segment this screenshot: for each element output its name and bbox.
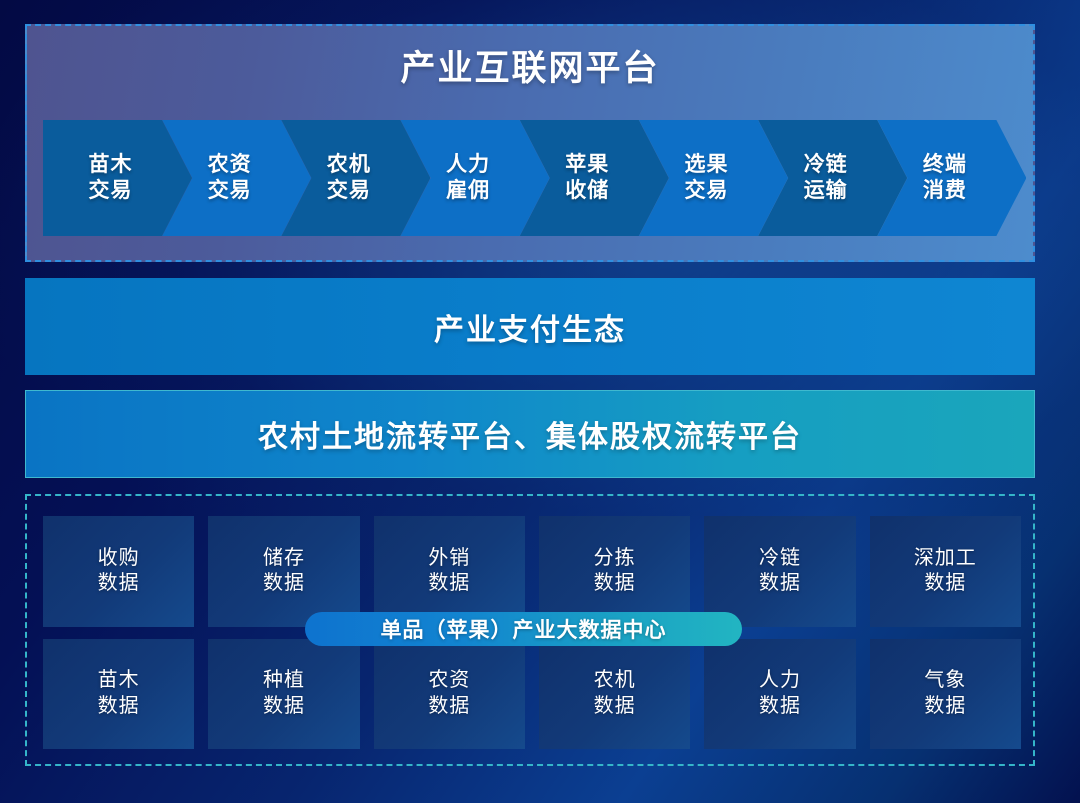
data-cell-line2: 数据 — [594, 571, 636, 597]
land-transfer-platform-label: 农村土地流转平台、集体股权流转平台 — [258, 412, 802, 456]
land-transfer-platform-band: 农村土地流转平台、集体股权流转平台 — [25, 390, 1035, 478]
value-chain-arrow-band: 苗木交易农资交易农机交易人力雇佣苹果收储选果交易冷链运输终端消费 — [43, 120, 1021, 236]
chevron-label-line1: 苹果 — [565, 153, 609, 176]
chevron-label: 人力雇佣 — [446, 152, 490, 203]
payment-ecosystem-band: 产业支付生态 — [25, 278, 1035, 375]
big-data-center-pill: 单品（苹果）产业大数据中心 — [305, 612, 742, 646]
data-cell-line1: 种植 — [263, 668, 305, 694]
chevron-label-line2: 消费 — [923, 179, 967, 202]
data-cell[interactable]: 深加工数据 — [870, 516, 1021, 627]
chevron-label: 农资交易 — [208, 152, 252, 203]
chevron-label-line1: 农机 — [327, 153, 371, 176]
data-cell[interactable]: 外销数据 — [374, 516, 525, 627]
chevron-label-line1: 选果 — [685, 153, 729, 176]
chevron-label: 选果交易 — [685, 152, 729, 203]
data-cell-line1: 人力 — [759, 668, 801, 694]
chevron-label-line1: 苗木 — [89, 153, 133, 176]
data-cell-line2: 数据 — [263, 694, 305, 720]
data-cell-line1: 气象 — [924, 668, 966, 694]
data-cell[interactable]: 苗木数据 — [43, 639, 194, 750]
data-cell-line1: 农资 — [428, 668, 470, 694]
data-cell-line2: 数据 — [594, 694, 636, 720]
chevron-label: 苹果收储 — [565, 152, 609, 203]
chevron-label: 终端消费 — [923, 152, 967, 203]
chevron-label-line2: 雇佣 — [446, 179, 490, 202]
chevron-label-line2: 交易 — [327, 179, 371, 202]
data-cell-line2: 数据 — [924, 694, 966, 720]
chevron-label: 冷链运输 — [804, 152, 848, 203]
chevron-label-line2: 收储 — [565, 179, 609, 202]
data-cell[interactable]: 气象数据 — [870, 639, 1021, 750]
data-cell[interactable]: 收购数据 — [43, 516, 194, 627]
chevron-label: 苗木交易 — [89, 152, 133, 203]
chevron-label-line1: 人力 — [446, 153, 490, 176]
data-cell-line1: 冷链 — [759, 546, 801, 572]
data-cell[interactable]: 农机数据 — [539, 639, 690, 750]
data-cell-line2: 数据 — [924, 571, 966, 597]
data-cell[interactable]: 分拣数据 — [539, 516, 690, 627]
chevron-label-line1: 终端 — [923, 153, 967, 176]
data-cell-line2: 数据 — [263, 571, 305, 597]
chevron-label-line2: 交易 — [89, 179, 133, 202]
data-cell-line2: 数据 — [428, 571, 470, 597]
chevron-label-line2: 运输 — [804, 179, 848, 202]
data-cell-line1: 外销 — [428, 546, 470, 572]
data-cell-line1: 分拣 — [594, 546, 636, 572]
data-cell-line1: 储存 — [263, 546, 305, 572]
data-cell-line2: 数据 — [428, 694, 470, 720]
data-cell-line2: 数据 — [98, 571, 140, 597]
data-cell[interactable]: 人力数据 — [704, 639, 855, 750]
data-cell-line2: 数据 — [98, 694, 140, 720]
data-cell[interactable]: 冷链数据 — [704, 516, 855, 627]
data-cell-line1: 农机 — [594, 668, 636, 694]
data-cell-line1: 深加工 — [914, 546, 977, 572]
data-cell[interactable]: 储存数据 — [208, 516, 359, 627]
top-panel-title: 产业互联网平台 — [27, 40, 1033, 91]
chevron-label-line1: 农资 — [208, 153, 252, 176]
data-cell-line2: 数据 — [759, 694, 801, 720]
diagram-canvas: 产业互联网平台 苗木交易农资交易农机交易人力雇佣苹果收储选果交易冷链运输终端消费… — [0, 0, 1080, 803]
chevron-label-line1: 冷链 — [804, 153, 848, 176]
data-cell-line1: 收购 — [98, 546, 140, 572]
data-cell[interactable]: 种植数据 — [208, 639, 359, 750]
payment-ecosystem-label: 产业支付生态 — [434, 305, 626, 349]
chevron-step-1[interactable]: 苗木交易 — [43, 120, 192, 236]
data-cell[interactable]: 农资数据 — [374, 639, 525, 750]
chevron-label: 农机交易 — [327, 152, 371, 203]
data-cell-line1: 苗木 — [98, 668, 140, 694]
chevron-label-line2: 交易 — [685, 179, 729, 202]
data-cell-line2: 数据 — [759, 571, 801, 597]
chevron-label-line2: 交易 — [208, 179, 252, 202]
industry-internet-platform-panel: 产业互联网平台 苗木交易农资交易农机交易人力雇佣苹果收储选果交易冷链运输终端消费 — [25, 24, 1035, 262]
